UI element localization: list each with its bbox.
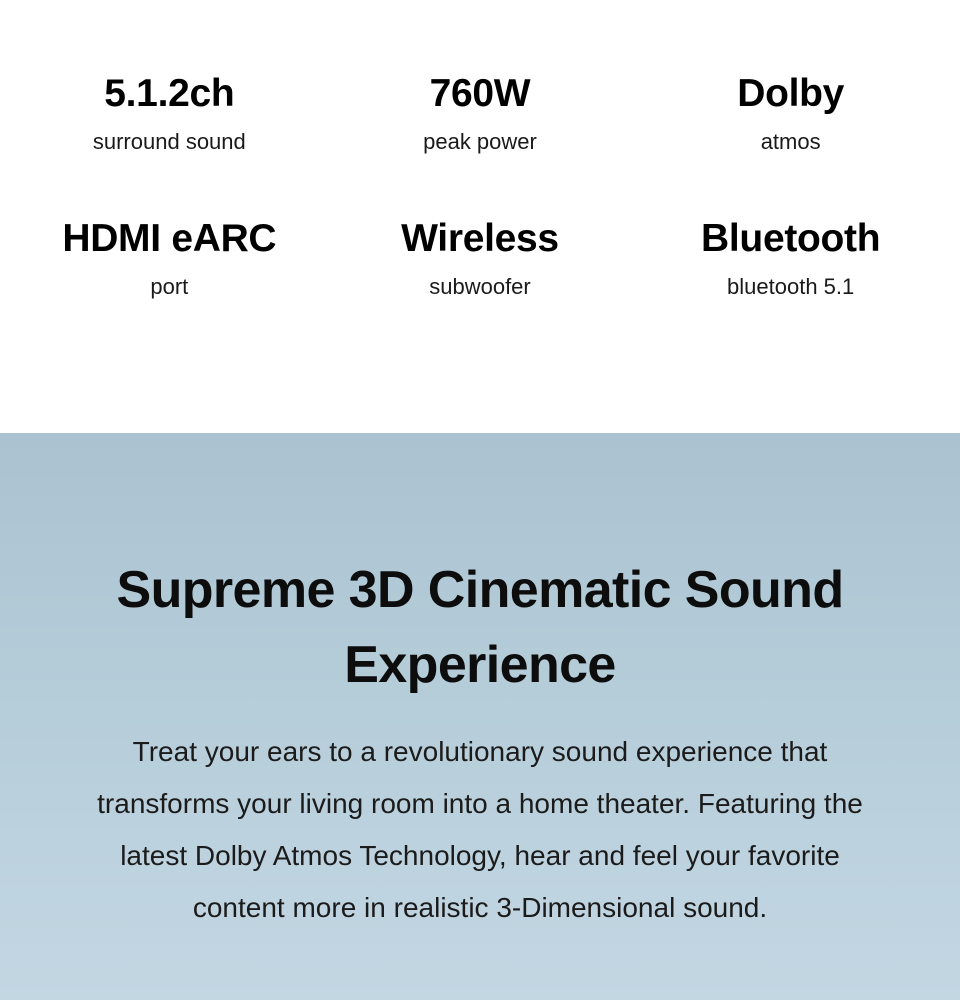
product-feature-page: 5.1.2ch surround sound 760W peak power D… xyxy=(0,0,960,1000)
spec-value: HDMI eARC xyxy=(20,217,319,261)
specifications-section: 5.1.2ch surround sound 760W peak power D… xyxy=(0,0,960,433)
spec-value: 5.1.2ch xyxy=(20,72,319,116)
spec-label: peak power xyxy=(331,129,630,155)
spec-cell-peak-power: 760W peak power xyxy=(325,72,636,155)
spec-cell-hdmi-earc: HDMI eARC port xyxy=(14,217,325,300)
spec-cell-bluetooth: Bluetooth bluetooth 5.1 xyxy=(635,217,946,300)
spec-value: Bluetooth xyxy=(641,217,940,261)
spec-label: atmos xyxy=(641,129,940,155)
hero-paragraph: Treat your ears to a revolutionary sound… xyxy=(80,726,880,934)
spec-value: Dolby xyxy=(641,72,940,116)
spec-cell-wireless-subwoofer: Wireless subwoofer xyxy=(325,217,636,300)
spec-label: subwoofer xyxy=(331,274,630,300)
spec-label: bluetooth 5.1 xyxy=(641,274,940,300)
spec-label: surround sound xyxy=(20,129,319,155)
hero-title: Supreme 3D Cinematic Sound Experience xyxy=(100,553,860,704)
spec-row-2: HDMI eARC port Wireless subwoofer Blueto… xyxy=(14,217,946,300)
hero-section: Supreme 3D Cinematic Sound Experience Tr… xyxy=(0,433,960,1000)
spec-cell-surround-sound: 5.1.2ch surround sound xyxy=(14,72,325,155)
spec-value: 760W xyxy=(331,72,630,116)
spec-cell-dolby-atmos: Dolby atmos xyxy=(635,72,946,155)
spec-value: Wireless xyxy=(331,217,630,261)
spec-row-1: 5.1.2ch surround sound 760W peak power D… xyxy=(14,72,946,155)
spec-label: port xyxy=(20,274,319,300)
